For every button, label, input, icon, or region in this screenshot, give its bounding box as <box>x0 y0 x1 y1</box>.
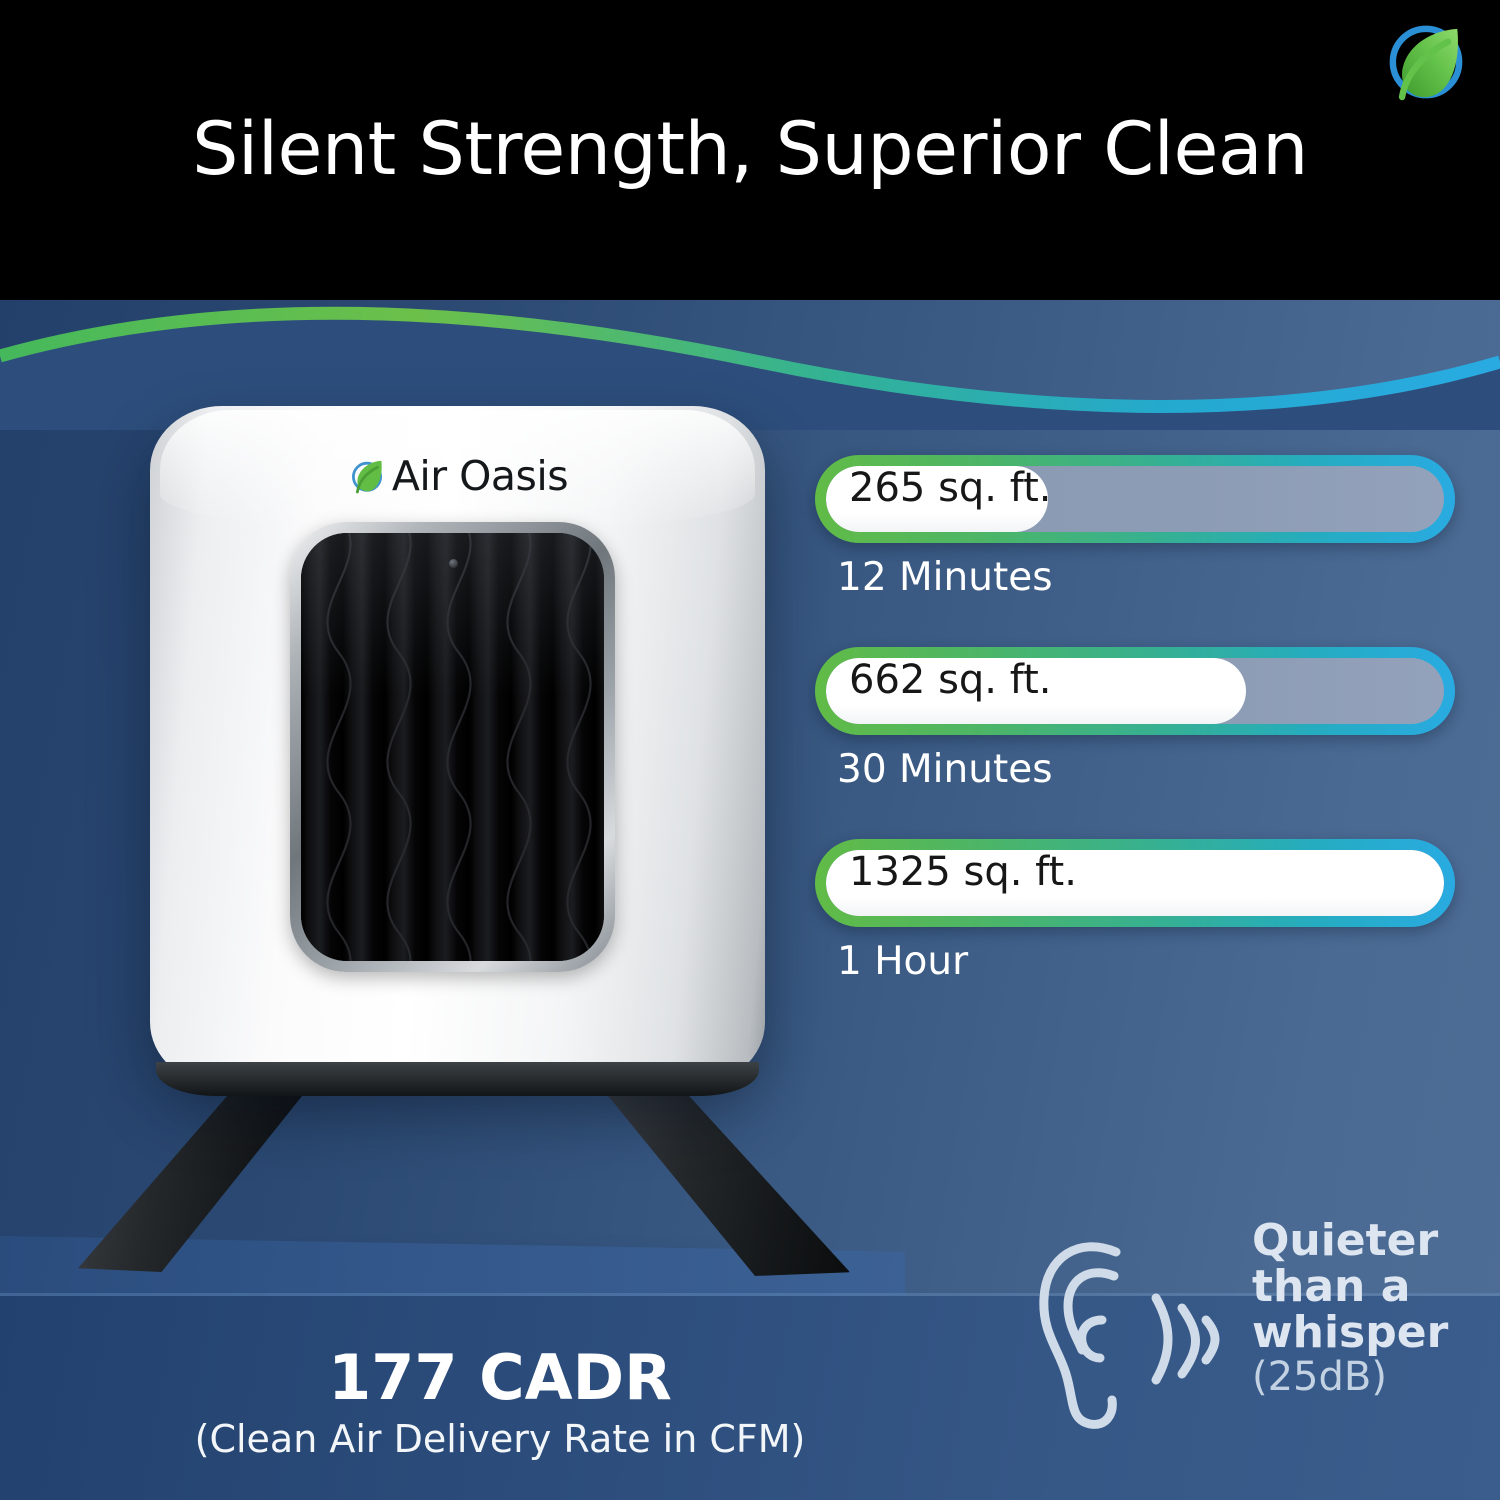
ear-with-sound-waves-icon <box>1030 1224 1245 1434</box>
coverage-bar-group: 1325 sq. ft. 1 Hour <box>815 839 1455 984</box>
leaf-logo <box>347 456 387 496</box>
page-title: Silent Strength, Superior Clean <box>0 112 1500 189</box>
device-brand-name: Air Oasis <box>392 452 568 500</box>
grille-bezel <box>290 522 615 972</box>
cadr-description: (Clean Air Delivery Rate in CFM) <box>40 1417 960 1461</box>
device-base-trim <box>156 1062 759 1096</box>
coverage-bar-value: 662 sq. ft. <box>849 647 1052 713</box>
coverage-bar-group: 662 sq. ft. 30 Minutes <box>815 647 1455 792</box>
coverage-bar-caption: 12 Minutes <box>815 555 1455 600</box>
quiet-line-1: Quieter <box>1252 1218 1490 1264</box>
air-intake-grille <box>301 533 604 961</box>
coverage-bar-value: 265 sq. ft. <box>849 455 1052 521</box>
quiet-block: Quieter than a whisper (25dB) <box>1030 1218 1490 1458</box>
sensor-dot-icon <box>449 559 458 568</box>
coverage-bar-chart: 265 sq. ft. 12 Minutes 662 sq. ft. 30 Mi… <box>815 455 1455 1031</box>
coverage-bar-caption: 30 Minutes <box>815 747 1455 792</box>
leaf-in-circle-logo <box>1380 16 1472 108</box>
coverage-bar-group: 265 sq. ft. 12 Minutes <box>815 455 1455 600</box>
coverage-bar-track: 265 sq. ft. <box>815 455 1455 543</box>
infographic-canvas: Silent Strength, Superior Clean Air Oasi… <box>0 0 1500 1500</box>
grille-top-glow <box>301 533 604 696</box>
coverage-bar-track: 662 sq. ft. <box>815 647 1455 735</box>
cadr-block: 177 CADR (Clean Air Delivery Rate in CFM… <box>40 1346 960 1461</box>
quiet-decibel-value: (25dB) <box>1252 1357 1490 1399</box>
air-purifier-device: Air Oasis <box>150 406 765 1106</box>
coverage-bar-value: 1325 sq. ft. <box>849 839 1077 905</box>
quiet-line-2: than a <box>1252 1264 1490 1310</box>
coverage-bar-track: 1325 sq. ft. <box>815 839 1455 927</box>
quiet-line-3: whisper <box>1252 1310 1490 1356</box>
coverage-bar-caption: 1 Hour <box>815 939 1455 984</box>
quiet-headline: Quieter than a whisper (25dB) <box>1252 1218 1490 1399</box>
cadr-value: 177 CADR <box>40 1346 960 1409</box>
device-brand-lockup: Air Oasis <box>150 452 765 500</box>
